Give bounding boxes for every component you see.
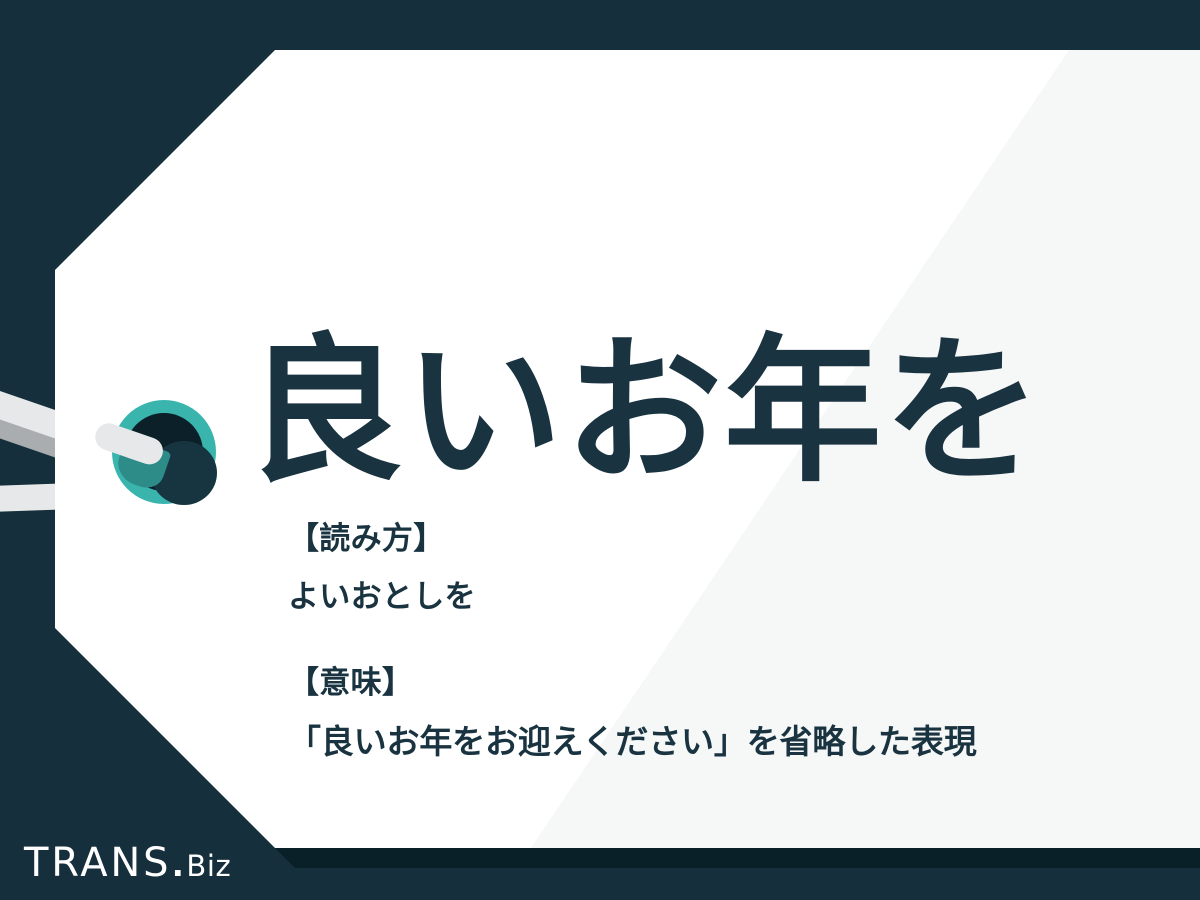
brand-logo: TRANS . Biz [24,843,231,883]
logo-dot: . [172,843,183,883]
page-title: 良いお年を [245,324,1165,501]
meaning-value: 「良いお年をお迎えください」を省略した表現 [288,720,977,765]
meaning-label: 【意味】 [288,662,977,704]
slide-canvas: 良いお年を 【読み方】 よいおとしを 【意味】 「良いお年をお迎えください」を省… [0,0,1200,900]
logo-sub-text: Biz [186,852,231,881]
meaning-block: 【意味】 「良いお年をお迎えください」を省略した表現 [288,662,977,764]
reading-label: 【読み方】 [288,518,476,560]
reading-value: よいおとしを [288,576,476,618]
logo-main-text: TRANS [24,843,171,883]
reading-block: 【読み方】 よいおとしを [288,518,476,618]
